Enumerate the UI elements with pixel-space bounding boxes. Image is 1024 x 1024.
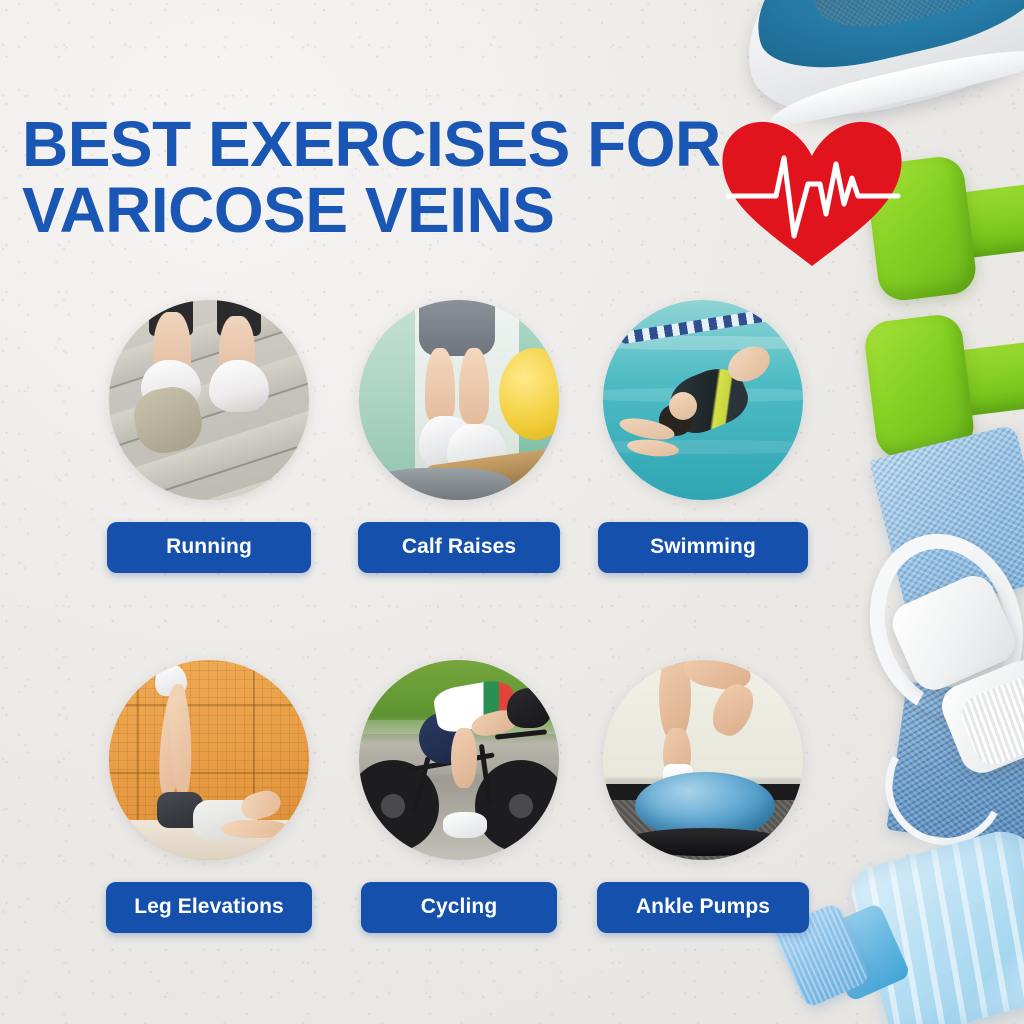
title-line-2: VARICOSE VEINS (22, 178, 742, 244)
infographic-poster: BEST EXERCISES FOR VARICOSE VEINS (0, 0, 1024, 1024)
exercise-label-swimming[interactable]: Swimming (598, 522, 808, 573)
exercise-card-ankle-pumps[interactable]: Ankle Pumps (580, 660, 826, 933)
page-title: BEST EXERCISES FOR VARICOSE VEINS (22, 112, 742, 244)
exercise-image-cycling (359, 660, 559, 860)
title-line-1: BEST EXERCISES FOR (22, 112, 742, 178)
exercise-card-calf-raises[interactable]: Calf Raises (336, 300, 582, 573)
exercise-card-leg-elevations[interactable]: Leg Elevations (86, 660, 332, 933)
exercise-card-running[interactable]: Running (86, 300, 332, 573)
exercise-row-2: Leg Elevations (0, 660, 1024, 1020)
exercise-label-running[interactable]: Running (107, 522, 311, 573)
blue-running-shoe-prop (726, 0, 1024, 137)
exercise-label-leg-elevations[interactable]: Leg Elevations (106, 882, 312, 933)
exercise-label-calf-raises[interactable]: Calf Raises (358, 522, 560, 573)
exercise-image-ankle-pumps (603, 660, 803, 860)
exercise-grid: Running (0, 300, 1024, 1020)
exercise-card-cycling[interactable]: Cycling (336, 660, 582, 933)
exercise-label-ankle-pumps[interactable]: Ankle Pumps (597, 882, 809, 933)
exercise-image-leg-elevations (109, 660, 309, 860)
exercise-image-swimming (603, 300, 803, 500)
heart-ecg-icon (718, 118, 906, 270)
exercise-row-1: Running (0, 300, 1024, 660)
exercise-image-running (109, 300, 309, 500)
exercise-label-cycling[interactable]: Cycling (361, 882, 557, 933)
exercise-image-calf-raises (359, 300, 559, 500)
exercise-card-swimming[interactable]: Swimming (580, 300, 826, 573)
